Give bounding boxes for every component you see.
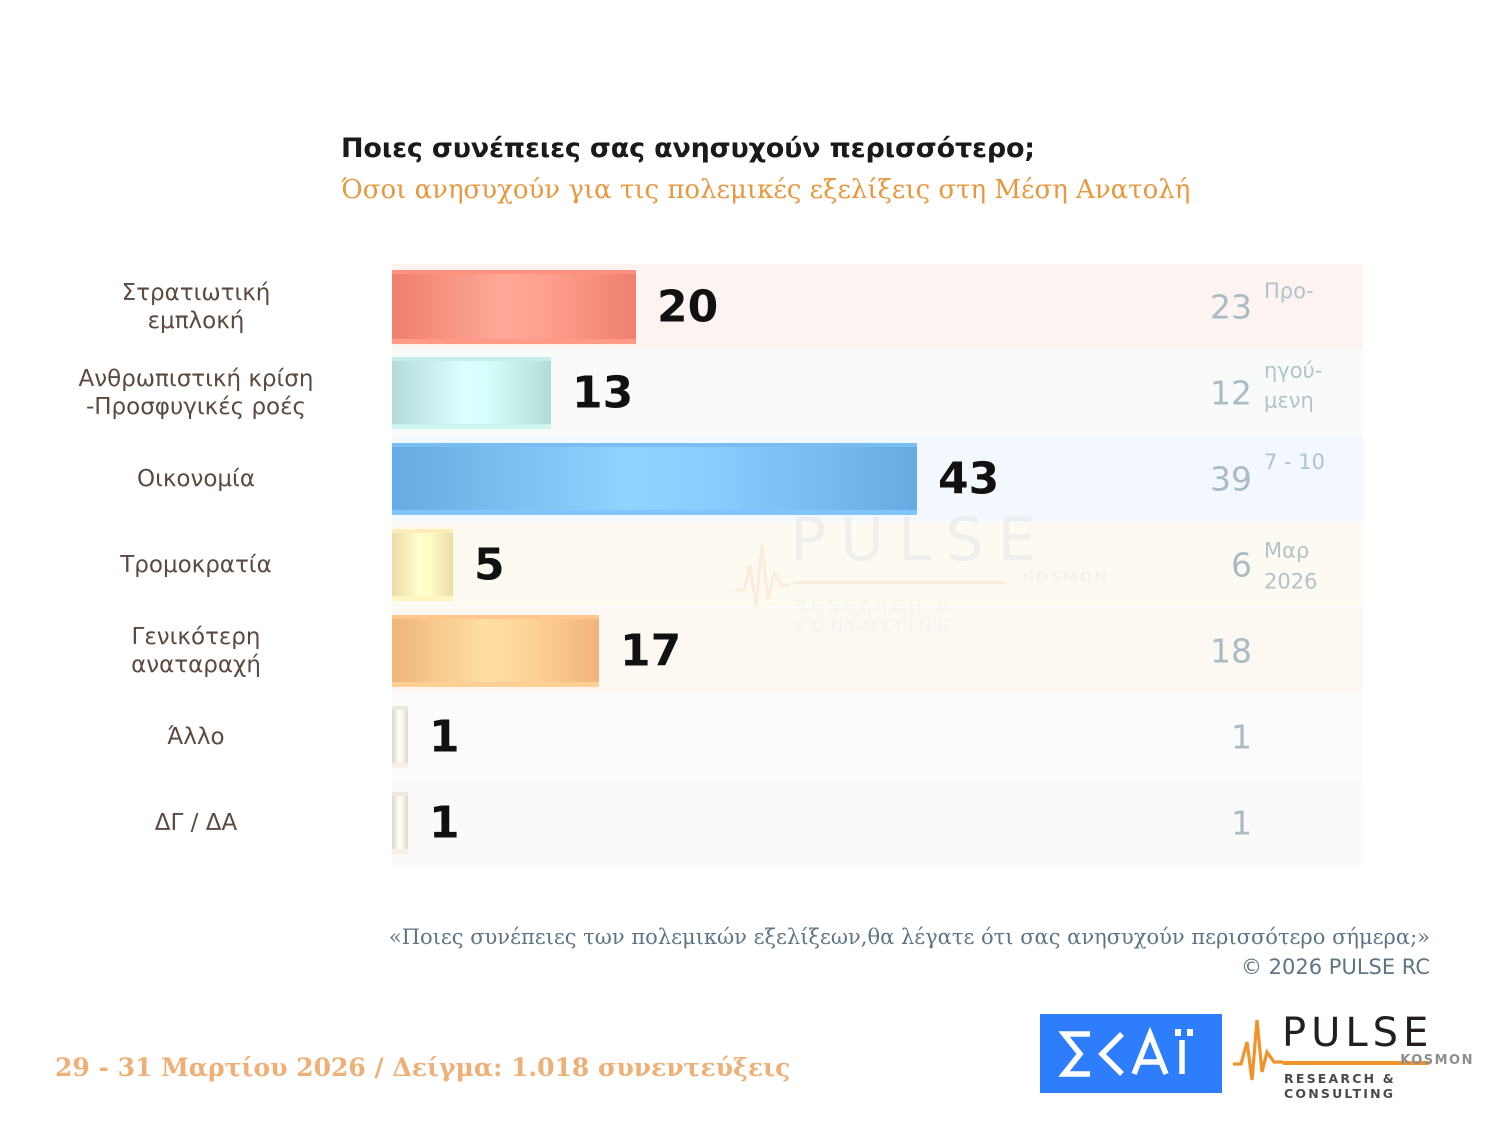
chart-row: Ανθρωπιστική κρίση-Προσφυγικές ροές1312η… bbox=[0, 350, 1500, 435]
category-label-line: Άλλο bbox=[20, 722, 372, 750]
footer-date-sample: 29 - 31 Μαρτίου 2026 / Δείγμα: 1.018 συν… bbox=[55, 1053, 790, 1082]
category-label-line: ΔΓ / ΔΑ bbox=[20, 808, 372, 836]
pulse-logo-text: PULSE bbox=[1282, 1010, 1433, 1056]
previous-period-note-line: 2026 bbox=[1264, 566, 1384, 596]
category-label-line: -Προσφυγικές ροές bbox=[20, 393, 372, 421]
bar-value-label: 1 bbox=[429, 797, 460, 848]
category-label: Τρομοκρατία bbox=[20, 550, 372, 578]
category-label: Οικονομία bbox=[20, 464, 372, 492]
previous-value-label: 12 bbox=[1160, 373, 1252, 412]
title-block: Ποιες συνέπειες σας ανησυχούν περισσότερ… bbox=[341, 133, 1341, 205]
previous-period-note: ηγού-μενη bbox=[1264, 355, 1384, 416]
previous-value-label: 6 bbox=[1160, 545, 1252, 584]
value-bar bbox=[392, 792, 408, 854]
bar-chart: Στρατιωτικήεμπλοκή2023Προ-Ανθρωπιστική κ… bbox=[0, 264, 1500, 864]
previous-period-note-line: ηγού- bbox=[1264, 355, 1384, 385]
skai-logo bbox=[1040, 1014, 1222, 1093]
previous-value-label: 1 bbox=[1160, 717, 1252, 756]
bar-value-label: 20 bbox=[657, 281, 718, 332]
category-label: ΔΓ / ΔΑ bbox=[20, 808, 372, 836]
value-bar bbox=[392, 615, 599, 687]
previous-period-note-line: Προ- bbox=[1264, 276, 1384, 306]
previous-period-note: Προ- bbox=[1264, 276, 1384, 306]
bar-value-label: 17 bbox=[620, 625, 681, 676]
previous-period-note: Μαρ2026 bbox=[1264, 536, 1384, 597]
value-bar bbox=[392, 357, 551, 429]
category-label: Γενικότερηαναταραχή bbox=[20, 622, 372, 678]
previous-period-note-line: Μαρ bbox=[1264, 536, 1384, 566]
category-label-line: Ανθρωπιστική κρίση bbox=[20, 364, 372, 392]
pulse-logo-subtitle: RESEARCH & CONSULTING bbox=[1284, 1071, 1477, 1101]
category-label: Στρατιωτικήεμπλοκή bbox=[20, 278, 372, 334]
value-bar bbox=[392, 706, 408, 768]
chart-row: Στρατιωτικήεμπλοκή2023Προ- bbox=[0, 264, 1500, 349]
footer-question: «Ποιες συνέπειες των πολεμικών εξελίξεων… bbox=[0, 925, 1430, 949]
category-label-line: αναταραχή bbox=[20, 651, 372, 679]
value-bar bbox=[392, 270, 636, 344]
pulse-logo-kosmon: KOSMON bbox=[1400, 1053, 1474, 1068]
previous-value-label: 1 bbox=[1160, 803, 1252, 842]
chart-row: Γενικότερηαναταραχή1718 bbox=[0, 608, 1500, 693]
chart-row: Τρομοκρατία56Μαρ2026 bbox=[0, 522, 1500, 607]
footer-copyright: © 2026 PULSE RC bbox=[0, 955, 1430, 979]
category-label-line: εμπλοκή bbox=[20, 307, 372, 335]
bar-value-label: 43 bbox=[938, 453, 999, 504]
previous-value-label: 39 bbox=[1160, 459, 1252, 498]
bar-value-label: 13 bbox=[572, 367, 633, 418]
previous-period-note-line: 7 - 10 bbox=[1264, 446, 1384, 476]
category-label-line: Οικονομία bbox=[20, 464, 372, 492]
previous-value-label: 18 bbox=[1160, 631, 1252, 670]
category-label-line: Τρομοκρατία bbox=[20, 550, 372, 578]
category-label: Άλλο bbox=[20, 722, 372, 750]
category-label: Ανθρωπιστική κρίση-Προσφυγικές ροές bbox=[20, 364, 372, 420]
chart-row: Άλλο11 bbox=[0, 694, 1500, 779]
skai-logo-icon bbox=[1056, 1026, 1206, 1082]
chart-row: ΔΓ / ΔΑ11 bbox=[0, 780, 1500, 865]
page-subtitle: Όσοι ανησυχούν για τις πολεμικές εξελίξε… bbox=[341, 175, 1341, 205]
bar-value-label: 1 bbox=[429, 711, 460, 762]
previous-period-note: 7 - 10 bbox=[1264, 446, 1384, 476]
category-label-line: Στρατιωτική bbox=[20, 278, 372, 306]
category-label-line: Γενικότερη bbox=[20, 622, 372, 650]
pulse-logo: PULSE KOSMON RESEARCH & CONSULTING bbox=[1247, 1010, 1477, 1095]
chart-row: Οικονομία43397 - 10 bbox=[0, 436, 1500, 521]
bar-value-label: 5 bbox=[474, 539, 505, 590]
previous-period-note-line: μενη bbox=[1264, 386, 1384, 416]
previous-value-label: 23 bbox=[1160, 287, 1252, 326]
value-bar bbox=[392, 443, 917, 515]
value-bar bbox=[392, 529, 453, 601]
page-title: Ποιες συνέπειες σας ανησυχούν περισσότερ… bbox=[341, 133, 1341, 164]
